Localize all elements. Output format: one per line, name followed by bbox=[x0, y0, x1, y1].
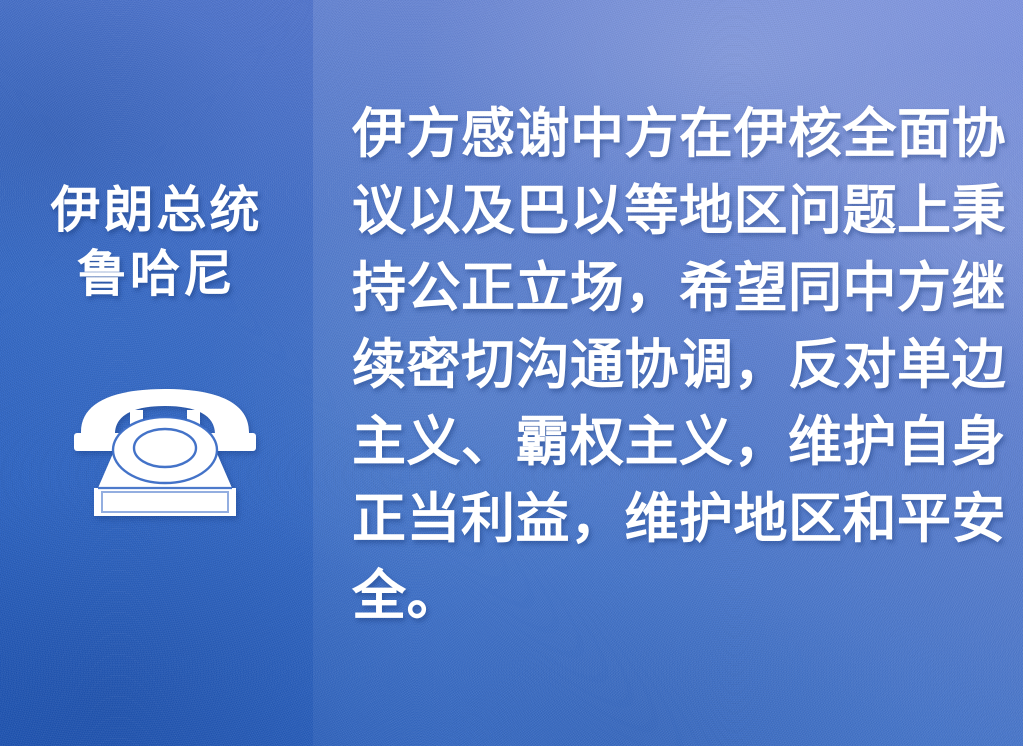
quote-line: 正当利益，维护地区和平安 bbox=[352, 481, 1000, 558]
quote-line: 全。 bbox=[352, 558, 1000, 635]
speaker-name-line: 鲁哈尼 bbox=[0, 242, 313, 306]
quote-text: 伊方感谢中方在伊核全面协 议以及巴以等地区问题上秉 持公正立场，希望同中方继 续… bbox=[352, 96, 1000, 635]
telephone-icon bbox=[72, 388, 258, 518]
left-panel: 伊朗总统 鲁哈尼 bbox=[0, 0, 313, 746]
quote-line: 持公正立场，希望同中方继 bbox=[352, 250, 1000, 327]
quote-line: 议以及巴以等地区问题上秉 bbox=[352, 173, 1000, 250]
quote-line: 主义、霸权主义，维护自身 bbox=[352, 404, 1000, 481]
speaker-role-line: 伊朗总统 bbox=[0, 178, 313, 242]
quote-line: 续密切沟通协调，反对单边 bbox=[352, 327, 1000, 404]
poster-canvas: 伊朗总统 鲁哈尼 bbox=[0, 0, 1023, 746]
quote-line: 伊方感谢中方在伊核全面协 bbox=[352, 96, 1000, 173]
speaker-title: 伊朗总统 鲁哈尼 bbox=[0, 178, 313, 306]
